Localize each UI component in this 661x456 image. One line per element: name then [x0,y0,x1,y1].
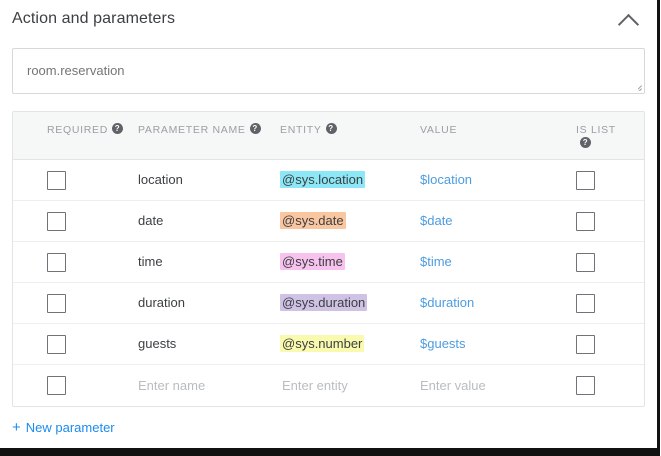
table-row: duration @sys.duration $duration [13,283,644,324]
required-cell [13,253,138,272]
value-cell[interactable]: $duration [420,294,560,312]
is-list-cell [560,212,644,231]
required-cell [13,212,138,231]
entity-value: @sys.number [280,335,364,352]
is-list-checkbox[interactable] [576,253,595,272]
is-list-checkbox[interactable] [576,376,595,395]
parameter-name-cell[interactable]: location [138,171,280,189]
value-cell[interactable]: $guests [420,335,560,353]
new-parameter-button[interactable]: + New parameter [12,420,115,435]
is-list-cell [560,171,644,190]
column-header-value: VALUE [420,123,560,137]
entity-cell[interactable]: @sys.time [280,253,420,271]
is-list-checkbox[interactable] [576,212,595,231]
action-input[interactable]: room.reservation [12,48,645,94]
required-checkbox[interactable] [47,212,66,231]
parameter-name-value: time [138,254,163,269]
entity-value: @sys.location [280,171,365,188]
is-list-checkbox[interactable] [576,171,595,190]
required-cell [13,294,138,313]
parameter-name-value: date [138,213,163,228]
column-header-is-list: IS LIST ? [560,123,644,148]
table-row: guests @sys.number $guests [13,324,644,365]
help-icon[interactable]: ? [580,137,591,148]
parameter-name-cell[interactable]: Enter name [138,377,280,395]
value-text: $guests [420,336,466,351]
required-checkbox[interactable] [47,376,66,395]
table-header-row: REQUIRED ? PARAMETER NAME ? ENTITY ? VAL… [13,112,644,160]
new-parameter-label: New parameter [26,420,115,435]
action-and-parameters-panel: Action and parameters room.reservation R… [0,0,660,456]
parameters-table: REQUIRED ? PARAMETER NAME ? ENTITY ? VAL… [12,111,645,407]
parameter-name-cell[interactable]: duration [138,294,280,312]
section-header: Action and parameters [0,0,657,34]
value-text: $date [420,213,453,228]
required-cell [13,335,138,354]
help-icon[interactable]: ? [112,123,123,134]
entity-value: @sys.date [280,212,346,229]
is-list-cell [560,253,644,272]
parameter-name-value: location [138,172,183,187]
table-row: date @sys.date $date [13,201,644,242]
column-header-parameter-name: PARAMETER NAME ? [138,123,280,137]
page-title: Action and parameters [12,9,175,29]
help-icon[interactable]: ? [250,123,261,134]
entity-cell[interactable]: Enter entity [280,377,420,395]
collapse-section-button[interactable] [613,9,643,35]
is-list-checkbox[interactable] [576,294,595,313]
table-row: time @sys.time $time [13,242,644,283]
column-header-required: REQUIRED ? [13,123,138,137]
parameter-name-value: guests [138,336,176,351]
parameter-name-cell[interactable]: time [138,253,280,271]
required-checkbox[interactable] [47,294,66,313]
help-icon[interactable]: ? [326,123,337,134]
value-cell[interactable]: $date [420,212,560,230]
parameter-name-placeholder: Enter name [138,378,205,393]
value-placeholder: Enter value [420,378,486,393]
entity-cell[interactable]: @sys.duration [280,294,420,312]
entity-value: @sys.time [280,253,345,270]
parameter-name-value: duration [138,295,185,310]
required-checkbox[interactable] [47,171,66,190]
value-text: $duration [420,295,474,310]
value-cell[interactable]: Enter value [420,377,560,395]
is-list-checkbox[interactable] [576,335,595,354]
entity-cell[interactable]: @sys.date [280,212,420,230]
value-text: $time [420,254,452,269]
table-row: location @sys.location $location [13,160,644,201]
value-cell[interactable]: $location [420,171,560,189]
required-checkbox[interactable] [47,253,66,272]
resize-grip-icon[interactable] [632,81,642,91]
entity-value: @sys.duration [280,294,367,311]
entity-cell[interactable]: @sys.location [280,171,420,189]
value-text: $location [420,172,472,187]
plus-icon: + [12,421,21,434]
required-checkbox[interactable] [47,335,66,354]
is-list-cell [560,335,644,354]
value-cell[interactable]: $time [420,253,560,271]
parameter-name-cell[interactable]: guests [138,335,280,353]
required-cell [13,376,138,395]
required-cell [13,171,138,190]
entity-cell[interactable]: @sys.number [280,335,420,353]
chevron-up-icon [617,14,638,35]
is-list-cell [560,294,644,313]
is-list-cell [560,376,644,395]
column-header-entity: ENTITY ? [280,123,420,137]
parameter-name-cell[interactable]: date [138,212,280,230]
action-value: room.reservation [27,62,125,80]
entity-placeholder: Enter entity [280,377,350,394]
new-parameter-row: Enter name Enter entity Enter value [13,365,644,406]
